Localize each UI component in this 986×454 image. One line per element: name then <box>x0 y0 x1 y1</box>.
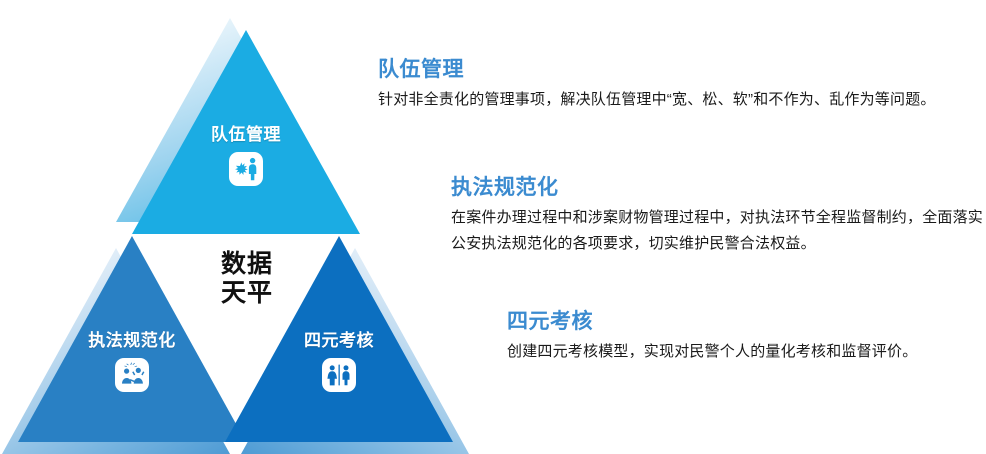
section-body-team-management: 针对非全责化的管理事项，解决队伍管理中“宽、松、软”和不作为、乱作为等问题。 <box>378 87 978 113</box>
section-heading-four-element: 四元考核 <box>507 310 985 334</box>
description-panel: 队伍管理 针对非全责化的管理事项，解决队伍管理中“宽、松、软”和不作为、乱作为等… <box>0 0 986 454</box>
section-team-management: 队伍管理 针对非全责化的管理事项，解决队伍管理中“宽、松、软”和不作为、乱作为等… <box>378 58 978 113</box>
section-heading-law-enforcement: 执法规范化 <box>451 176 985 200</box>
infographic-canvas: 执法规范化 <box>0 0 986 454</box>
section-body-law-enforcement: 在案件办理过程中和涉案财物管理过程中，对执法环节全程监督制约，全面落实公安执法规… <box>451 205 985 257</box>
section-heading-team-management: 队伍管理 <box>378 58 978 82</box>
section-body-four-element: 创建四元考核模型，实现对民警个人的量化考核和监督评价。 <box>507 339 985 365</box>
section-four-element-assessment: 四元考核 创建四元考核模型，实现对民警个人的量化考核和监督评价。 <box>507 310 985 365</box>
section-law-enforcement-standardization: 执法规范化 在案件办理过程中和涉案财物管理过程中，对执法环节全程监督制约，全面落… <box>451 176 985 257</box>
